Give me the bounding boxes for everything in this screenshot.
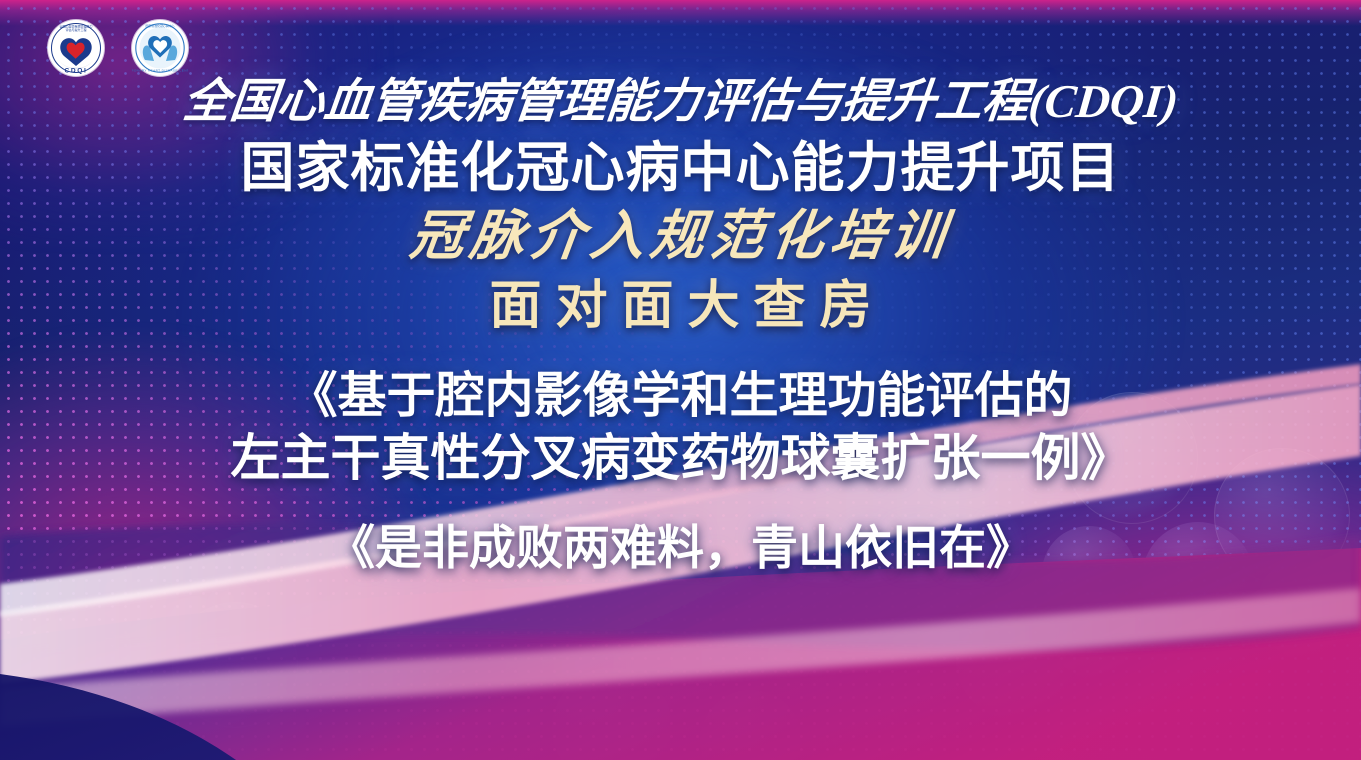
- training-name-calligraphy: 冠脉介入规范化培训: [0, 208, 1361, 265]
- topic-line-2: 左主干真性分叉病变药物球囊扩张一例》: [0, 427, 1361, 490]
- bokeh-circle: [158, 668, 308, 760]
- bokeh-circle: [172, 602, 298, 728]
- bokeh-circle: [700, 690, 802, 760]
- subtitle: 《是非成败两难料，青山依旧在》: [0, 520, 1361, 576]
- topic-line-1: 《基于腔内影像学和生理功能评估的: [0, 366, 1361, 428]
- conference-poster: 全国心血管疾病管理能力 评估与提升工程 CDQI 国家标准化冠心病中心 CORO…: [0, 0, 1361, 760]
- title-stack: 全国心血管疾病管理能力评估与提升工程(CDQI) 国家标准化冠心病中心能力提升项…: [0, 0, 1361, 577]
- program-name-calligraphy: 全国心血管疾病管理能力评估与提升工程(CDQI): [0, 78, 1361, 127]
- event-type: 面对面大查房: [0, 278, 1361, 335]
- bokeh-circle: [206, 582, 260, 636]
- bokeh-circle: [1052, 592, 1140, 680]
- project-name: 国家标准化冠心病中心能力提升项目: [0, 139, 1361, 197]
- topic-block: 《基于腔内影像学和生理功能评估的 左主干真性分叉病变药物球囊扩张一例》: [0, 366, 1361, 491]
- bokeh-circle: [552, 668, 672, 760]
- bokeh-circle: [160, 596, 228, 664]
- bokeh-circle: [366, 614, 452, 700]
- bokeh-circle: [956, 600, 1076, 720]
- bokeh-circle: [32, 688, 128, 760]
